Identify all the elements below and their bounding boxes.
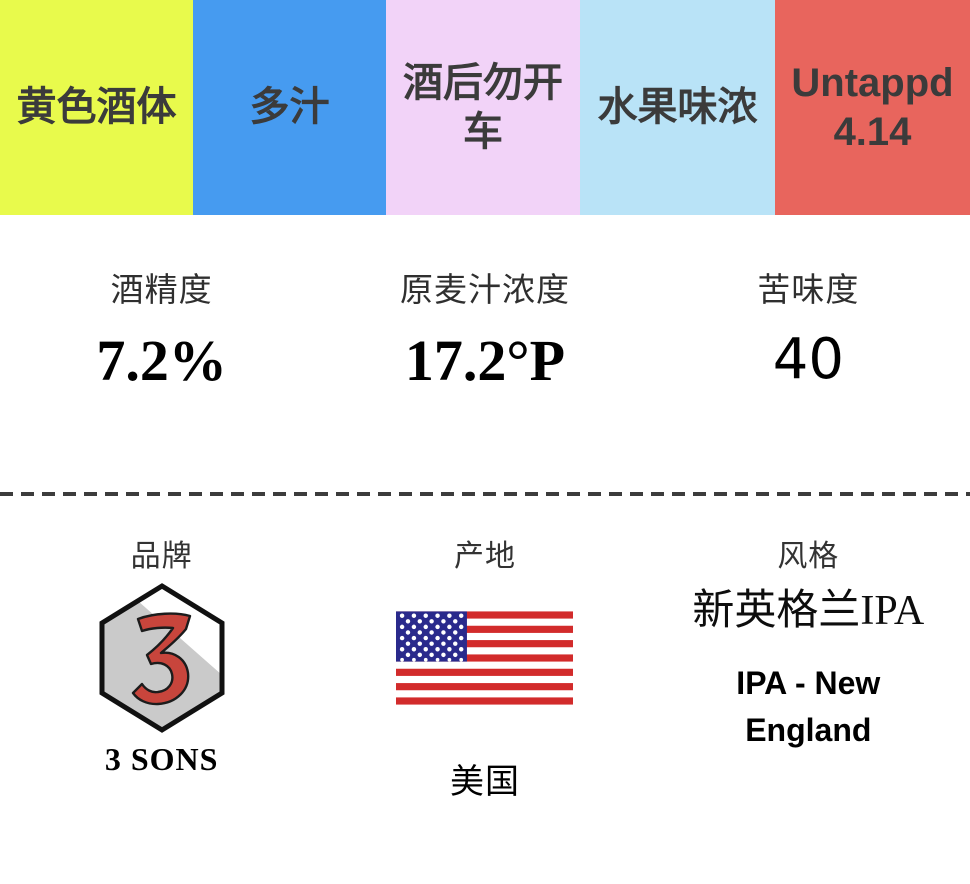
brand-label: 品牌 <box>131 542 193 572</box>
three-sons-hexagon-logo-icon <box>98 583 226 733</box>
info-row: 品牌 3 SONS <box>0 512 970 884</box>
stat-value: 40 <box>773 332 844 388</box>
stat-label: 酒精度 <box>111 273 213 306</box>
us-flag-icon <box>396 598 573 718</box>
stat-value: 17.2°P <box>405 332 565 390</box>
tag-juicy[interactable]: 多汁 <box>193 0 386 215</box>
beer-info-card: 黄色酒体 多汁 酒后勿开车 水果味浓 Untappd4.14 酒精度 7.2% … <box>0 0 970 884</box>
tag-band: 黄色酒体 多汁 酒后勿开车 水果味浓 Untappd4.14 <box>0 0 970 215</box>
untappd-source-label: Untappd <box>791 61 953 105</box>
untappd-score: 4.14 <box>834 110 912 154</box>
tag-label: 酒后勿开车 <box>392 59 574 157</box>
origin-country: 美国 <box>450 762 520 803</box>
tag-label: 黄色酒体 <box>17 83 177 132</box>
stat-original-gravity: 原麦汁浓度 17.2°P <box>323 215 646 476</box>
tag-fruity[interactable]: 水果味浓 <box>580 0 775 215</box>
brand-logo-wrap <box>98 594 226 722</box>
tag-no-drink-drive[interactable]: 酒后勿开车 <box>386 0 580 215</box>
stat-abv: 酒精度 7.2% <box>0 215 323 476</box>
tag-flavor-color[interactable]: 黄色酒体 <box>0 0 193 215</box>
origin-flag-wrap <box>396 594 573 722</box>
style-name-cn: 新英格兰IPA <box>692 588 924 634</box>
info-col-origin: 产地 <box>323 512 646 884</box>
untappd-rating-text: Untappd4.14 <box>791 59 953 157</box>
divider-wrap <box>0 476 970 512</box>
tag-untappd-rating[interactable]: Untappd4.14 <box>775 0 970 215</box>
origin-label: 产地 <box>454 542 516 572</box>
style-name-en: IPA - New England <box>693 660 923 753</box>
stat-label: 原麦汁浓度 <box>400 273 570 306</box>
tag-label: 多汁 <box>250 83 330 132</box>
style-label: 风格 <box>777 542 839 572</box>
stat-value: 7.2% <box>96 332 227 390</box>
info-col-style: 风格 新英格兰IPA IPA - New England <box>647 512 970 884</box>
stats-row: 酒精度 7.2% 原麦汁浓度 17.2°P 苦味度 40 <box>0 215 970 476</box>
style-names-wrap: 新英格兰IPA IPA - New England <box>692 588 924 753</box>
info-col-brand: 品牌 3 SONS <box>0 512 323 884</box>
tag-label: 水果味浓 <box>598 83 758 132</box>
stat-label: 苦味度 <box>757 273 859 306</box>
stat-ibu: 苦味度 40 <box>647 215 970 476</box>
dashed-divider <box>0 492 970 496</box>
brand-name: 3 SONS <box>105 740 219 779</box>
